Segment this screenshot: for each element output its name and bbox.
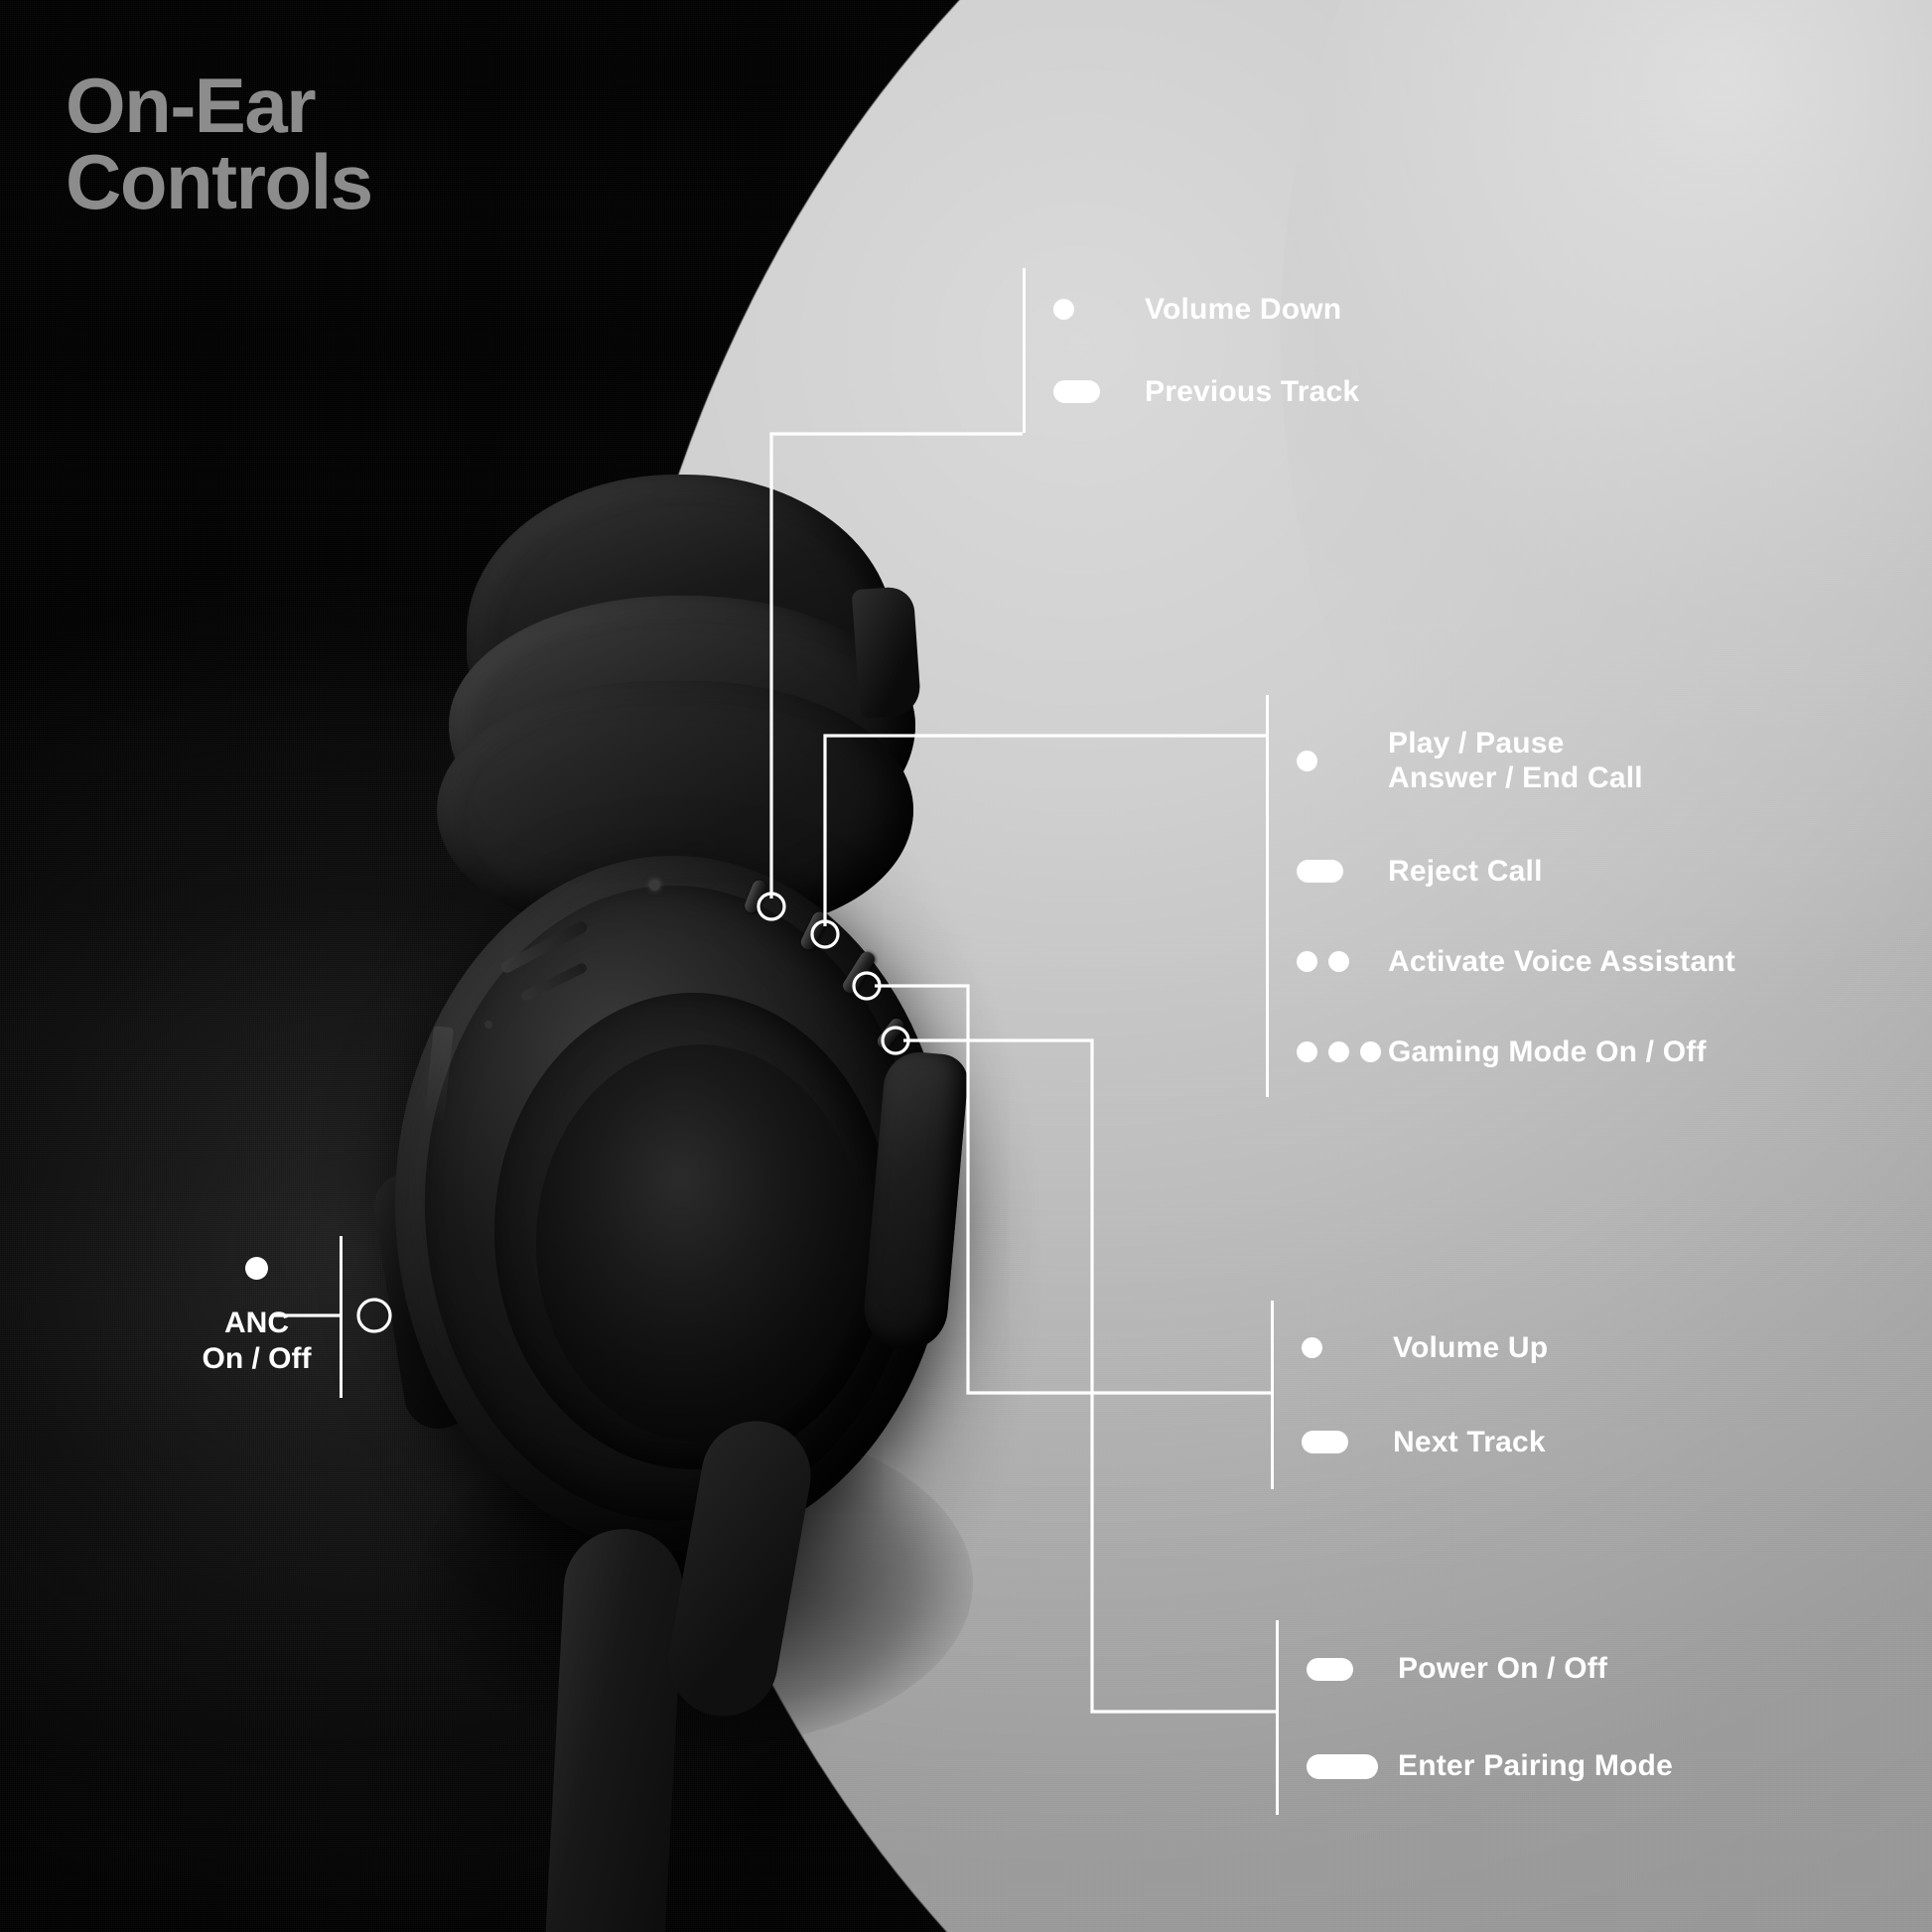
callout-label: Power On / Off xyxy=(1398,1651,1607,1686)
leader-volume-up xyxy=(875,986,1271,1393)
leader-playback xyxy=(825,736,1266,926)
callout-row: ANC On / Off xyxy=(174,1236,340,1398)
press-hold-pill-icon xyxy=(1302,1431,1348,1453)
press-hold-long-pill-icon xyxy=(1307,1754,1378,1779)
press-dot-icon xyxy=(1328,1041,1349,1062)
press-dot-icon xyxy=(1297,951,1317,972)
callout-row: Previous Track xyxy=(1026,350,1438,433)
glyph-one-pill xyxy=(1279,1658,1398,1681)
glyph-two-dots xyxy=(1269,951,1388,972)
glyph-three-dots xyxy=(1269,1041,1388,1062)
glyph-one-dot xyxy=(1274,1337,1393,1358)
callout-label: Play / Pause Answer / End Call xyxy=(1388,726,1643,796)
press-hold-pill-icon xyxy=(1307,1658,1353,1681)
press-dot-icon xyxy=(245,1257,268,1280)
callout-label: Volume Down xyxy=(1145,292,1341,327)
callout-label: Enter Pairing Mode xyxy=(1398,1748,1673,1783)
glyph-one-pill-long xyxy=(1279,1754,1398,1779)
press-dot-icon xyxy=(1302,1337,1322,1358)
callout-row: Reject Call xyxy=(1269,826,1932,916)
leader-volume-down xyxy=(771,434,1023,898)
callout-anc-group: ANC On / Off xyxy=(174,1236,343,1398)
callout-row: Enter Pairing Mode xyxy=(1279,1718,1713,1815)
press-hold-pill-icon xyxy=(1297,860,1343,883)
callout-label: Activate Voice Assistant xyxy=(1388,944,1735,979)
press-dot-icon xyxy=(1053,299,1074,320)
callout-row: Activate Voice Assistant xyxy=(1269,916,1932,1007)
marker-anc-icon xyxy=(358,1300,390,1331)
press-dot-icon xyxy=(1297,751,1317,771)
glyph-one-dot xyxy=(1026,299,1145,320)
callout-row: Gaming Mode On / Off xyxy=(1269,1007,1932,1097)
glyph-one-pill xyxy=(1274,1431,1393,1453)
callout-row: Volume Down xyxy=(1026,268,1438,350)
callout-label: Volume Up xyxy=(1393,1330,1548,1365)
callout-volume-up-group: Volume Up Next Track xyxy=(1271,1301,1688,1489)
callout-label: Gaming Mode On / Off xyxy=(1388,1035,1707,1069)
glyph-one-dot xyxy=(1269,751,1388,771)
page-title: On-Ear Controls xyxy=(66,68,372,220)
callout-row: Next Track xyxy=(1274,1395,1688,1489)
callout-volume-group: Volume Down Previous Track xyxy=(1023,268,1438,433)
callout-row: Play / Pause Answer / End Call xyxy=(1269,695,1932,826)
press-dot-icon xyxy=(1297,1041,1317,1062)
press-hold-pill-icon xyxy=(1053,380,1100,403)
press-dot-icon xyxy=(1360,1041,1381,1062)
callout-power-group: Power On / Off Enter Pairing Mode xyxy=(1276,1620,1713,1815)
glyph-one-pill xyxy=(1026,380,1145,403)
callout-label: Reject Call xyxy=(1388,854,1543,889)
leader-power xyxy=(903,1040,1276,1712)
callout-label: Next Track xyxy=(1393,1425,1546,1459)
press-dot-icon xyxy=(1328,951,1349,972)
callout-row: Power On / Off xyxy=(1279,1620,1713,1718)
callout-row: Volume Up xyxy=(1274,1301,1688,1395)
callout-label: Previous Track xyxy=(1145,374,1359,409)
glyph-one-pill xyxy=(1269,860,1388,883)
callout-playback-group: Play / Pause Answer / End Call Reject Ca… xyxy=(1266,695,1932,1097)
callout-label: ANC On / Off xyxy=(203,1306,312,1377)
product-diagram-canvas: On-Ear Controls Volume Down Previous Tra… xyxy=(0,0,1932,1932)
